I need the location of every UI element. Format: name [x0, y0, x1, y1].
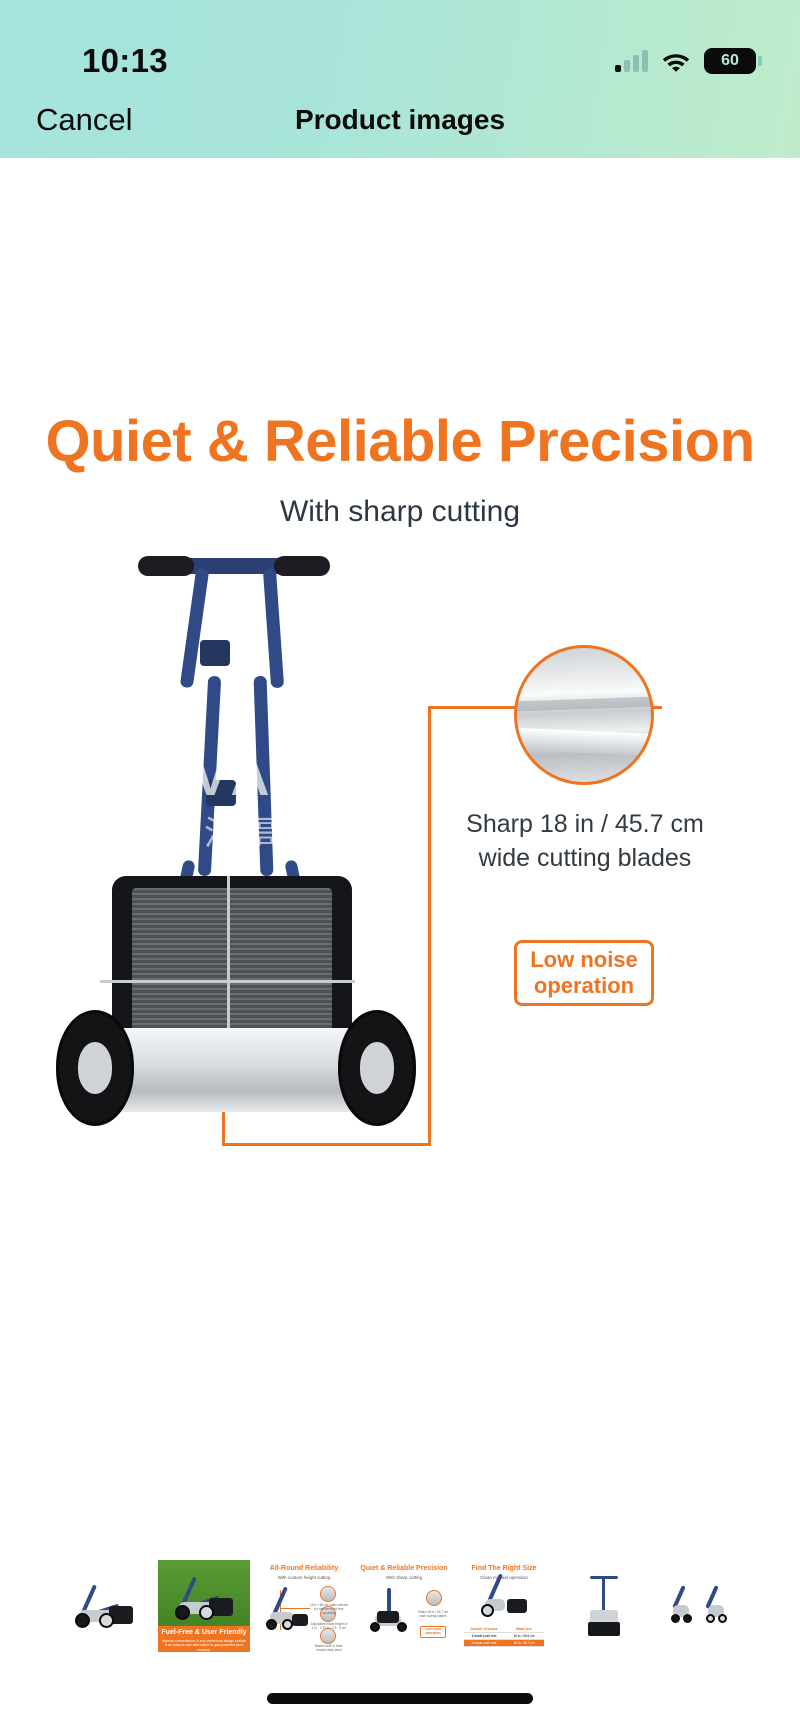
page-title: Product images — [0, 104, 800, 136]
thumbnail-3-subtitle: With custom height cutting — [258, 1576, 350, 1581]
blade-detail-caption: Sharp 18 in / 45.7 cm wide cutting blade… — [440, 808, 730, 876]
mower-mini-icon-a — [669, 1597, 703, 1627]
mower-mini-icon — [173, 1576, 235, 1624]
thumbnail-3-image: All-Round Reliability With custom height… — [258, 1560, 350, 1652]
table-header-row: Number of blades Blade size — [464, 1626, 544, 1633]
product-image-viewer[interactable]: Quiet & Reliable Precision With sharp cu… — [0, 158, 800, 1528]
mini-wheel-b — [282, 1619, 293, 1630]
thumbnail-1-image — [58, 1560, 150, 1652]
thumbnail-3-caption-2: Adjustable blade height of 1 in - 1.97 i… — [310, 1622, 348, 1630]
mini-post — [602, 1578, 605, 1614]
mower-grip-left — [138, 556, 194, 576]
thumbnail-4-caption: Sharp 18 in / 45.7 cm wide cutting blade… — [416, 1610, 450, 1618]
thumbnail-4-image: Quiet & Reliable Precision With sharp cu… — [358, 1560, 450, 1652]
mini-wheel-a — [671, 1614, 680, 1623]
thumbnail-4[interactable]: Quiet & Reliable Precision With sharp cu… — [358, 1560, 450, 1652]
mower-upper-bar-left — [180, 568, 210, 689]
nav-bar: Cancel Product images — [0, 88, 800, 158]
mower-mid-bar-left — [198, 676, 221, 876]
mower-grass-catcher-mesh — [132, 888, 332, 1038]
mower-mini-icon — [367, 1602, 411, 1636]
mini-wheel-a — [175, 1605, 190, 1620]
product-images-screen: 10:13 60 Cancel Product imag — [0, 0, 800, 1730]
mini-wheel-b — [718, 1614, 727, 1623]
mower-wheel-right — [338, 1010, 416, 1126]
thumbnail-3-detail-circle-3 — [320, 1628, 336, 1644]
mower-support-wire-vertical — [227, 876, 230, 1046]
mower-mini-icon — [73, 1584, 135, 1632]
table-header-size: Blade size — [504, 1626, 544, 1632]
image-headline: Quiet & Reliable Precision — [0, 408, 800, 475]
table-row: 4-blade push reel 16 in / 40.6 cm — [464, 1633, 544, 1640]
thumbnail-1[interactable] — [58, 1560, 150, 1652]
mower-wheel-left — [56, 1010, 134, 1126]
lawn-mower-illustration — [20, 558, 440, 1138]
image-subhead: With sharp cutting — [0, 495, 800, 529]
thumbnail-4-subtitle: With sharp cutting — [358, 1576, 450, 1581]
thumbnail-5[interactable]: Find The Right Size Clean manual operati… — [458, 1560, 550, 1652]
mini-wheel-b — [683, 1614, 692, 1623]
thumbnail-7-image — [658, 1560, 750, 1652]
thumbnail-4-title: Quiet & Reliable Precision — [358, 1565, 450, 1573]
battery-level-label: 60 — [721, 52, 739, 70]
mower-cutting-deck — [98, 1028, 370, 1112]
blade-detail-inset — [514, 645, 654, 785]
low-noise-badge: Low noise operation — [514, 940, 654, 1006]
top-bar: 10:13 60 Cancel Product imag — [0, 0, 800, 158]
mini-wheel-a — [266, 1619, 277, 1630]
cellular-signal-icon — [615, 50, 648, 72]
mower-mini-icon-b — [704, 1597, 738, 1627]
thumbnail-2[interactable]: Fuel-Free & User Friendly Manual conveni… — [158, 1560, 250, 1652]
mower-mini-icon — [264, 1600, 310, 1634]
mini-wheel-a — [706, 1614, 715, 1623]
mini-wheel-b — [99, 1613, 114, 1628]
table-cell: 16 in / 40.6 cm — [504, 1633, 544, 1639]
thumbnail-5-title: Find The Right Size — [458, 1565, 550, 1573]
thumbnail-4-detail-circle — [426, 1590, 442, 1606]
mower-mini-icon — [582, 1574, 626, 1638]
thumbnail-2-band-title: Fuel-Free & User Friendly — [161, 1629, 246, 1636]
mini-wheel-a — [75, 1613, 90, 1628]
thumbnail-3-title: All-Round Reliability — [258, 1565, 350, 1573]
thumbnail-3-caption-1: 15 in / 38 cm cutter wheels for maintena… — [310, 1603, 348, 1615]
mower-wheel-hub-left — [78, 1042, 112, 1094]
table-row: 5-blade push reel 18 in / 45.7 cm — [464, 1640, 544, 1647]
status-icon-group: 60 — [615, 48, 756, 74]
table-cell: 4-blade push reel — [464, 1633, 504, 1639]
thumbnail-2-image: Fuel-Free & User Friendly Manual conveni… — [158, 1560, 250, 1652]
thumbnail-5-size-table: Number of blades Blade size 4-blade push… — [464, 1626, 544, 1647]
status-clock: 10:13 — [82, 42, 168, 80]
table-cell: 18 in / 45.7 cm — [504, 1640, 544, 1646]
mower-mid-bar-right — [254, 676, 274, 876]
battery-icon: 60 — [704, 48, 756, 74]
thumbnail-6[interactable] — [558, 1560, 650, 1652]
wifi-icon — [661, 50, 691, 72]
home-indicator[interactable] — [267, 1693, 533, 1704]
mower-upper-bar-right — [263, 568, 284, 689]
low-noise-badge-line2: operation — [534, 973, 634, 999]
mower-grip-right — [274, 556, 330, 576]
low-noise-badge-line1: Low noise — [530, 947, 638, 973]
thumbnail-5-image: Find The Right Size Clean manual operati… — [458, 1560, 550, 1652]
thumbnail-2-band-sub: Manual convenience & eco-conscious desig… — [158, 1637, 250, 1652]
thumbnail-2-band: Fuel-Free & User Friendly Manual conveni… — [158, 1626, 250, 1652]
mini-bag — [377, 1611, 399, 1623]
mini-wheel-b — [199, 1605, 214, 1620]
mower-clamp-upper — [200, 640, 230, 666]
mini-wheel-a — [370, 1622, 380, 1632]
thumbnail-3-detail-circle-1 — [320, 1586, 336, 1602]
thumbnail-strip[interactable]: Fuel-Free & User Friendly Manual conveni… — [0, 1546, 800, 1666]
thumbnail-7[interactable] — [658, 1560, 750, 1652]
thumbnail-3[interactable]: All-Round Reliability With custom height… — [258, 1560, 350, 1652]
mower-mini-icon — [479, 1587, 529, 1621]
mower-wheel-hub-right — [360, 1042, 394, 1094]
mini-wheel-a — [481, 1604, 494, 1617]
mini-bag — [507, 1599, 527, 1613]
thumbnail-4-badge: Low noise operation — [420, 1626, 446, 1638]
thumbnail-3-caption-3: Blades built of heat-treated alloy steel — [310, 1644, 348, 1652]
mower-clamp-lower — [206, 780, 236, 806]
thumbnail-6-image — [558, 1560, 650, 1652]
table-cell: 5-blade push reel — [464, 1640, 504, 1646]
mini-wheel-b — [397, 1622, 407, 1632]
mini-bag — [588, 1622, 620, 1636]
thumbnail-5-subtitle: Clean manual operation — [458, 1576, 550, 1581]
table-header-blades: Number of blades — [464, 1626, 504, 1632]
status-bar: 10:13 60 — [0, 22, 800, 66]
callout-line-bottom-horizontal — [222, 1143, 431, 1146]
mini-bag — [292, 1614, 308, 1626]
